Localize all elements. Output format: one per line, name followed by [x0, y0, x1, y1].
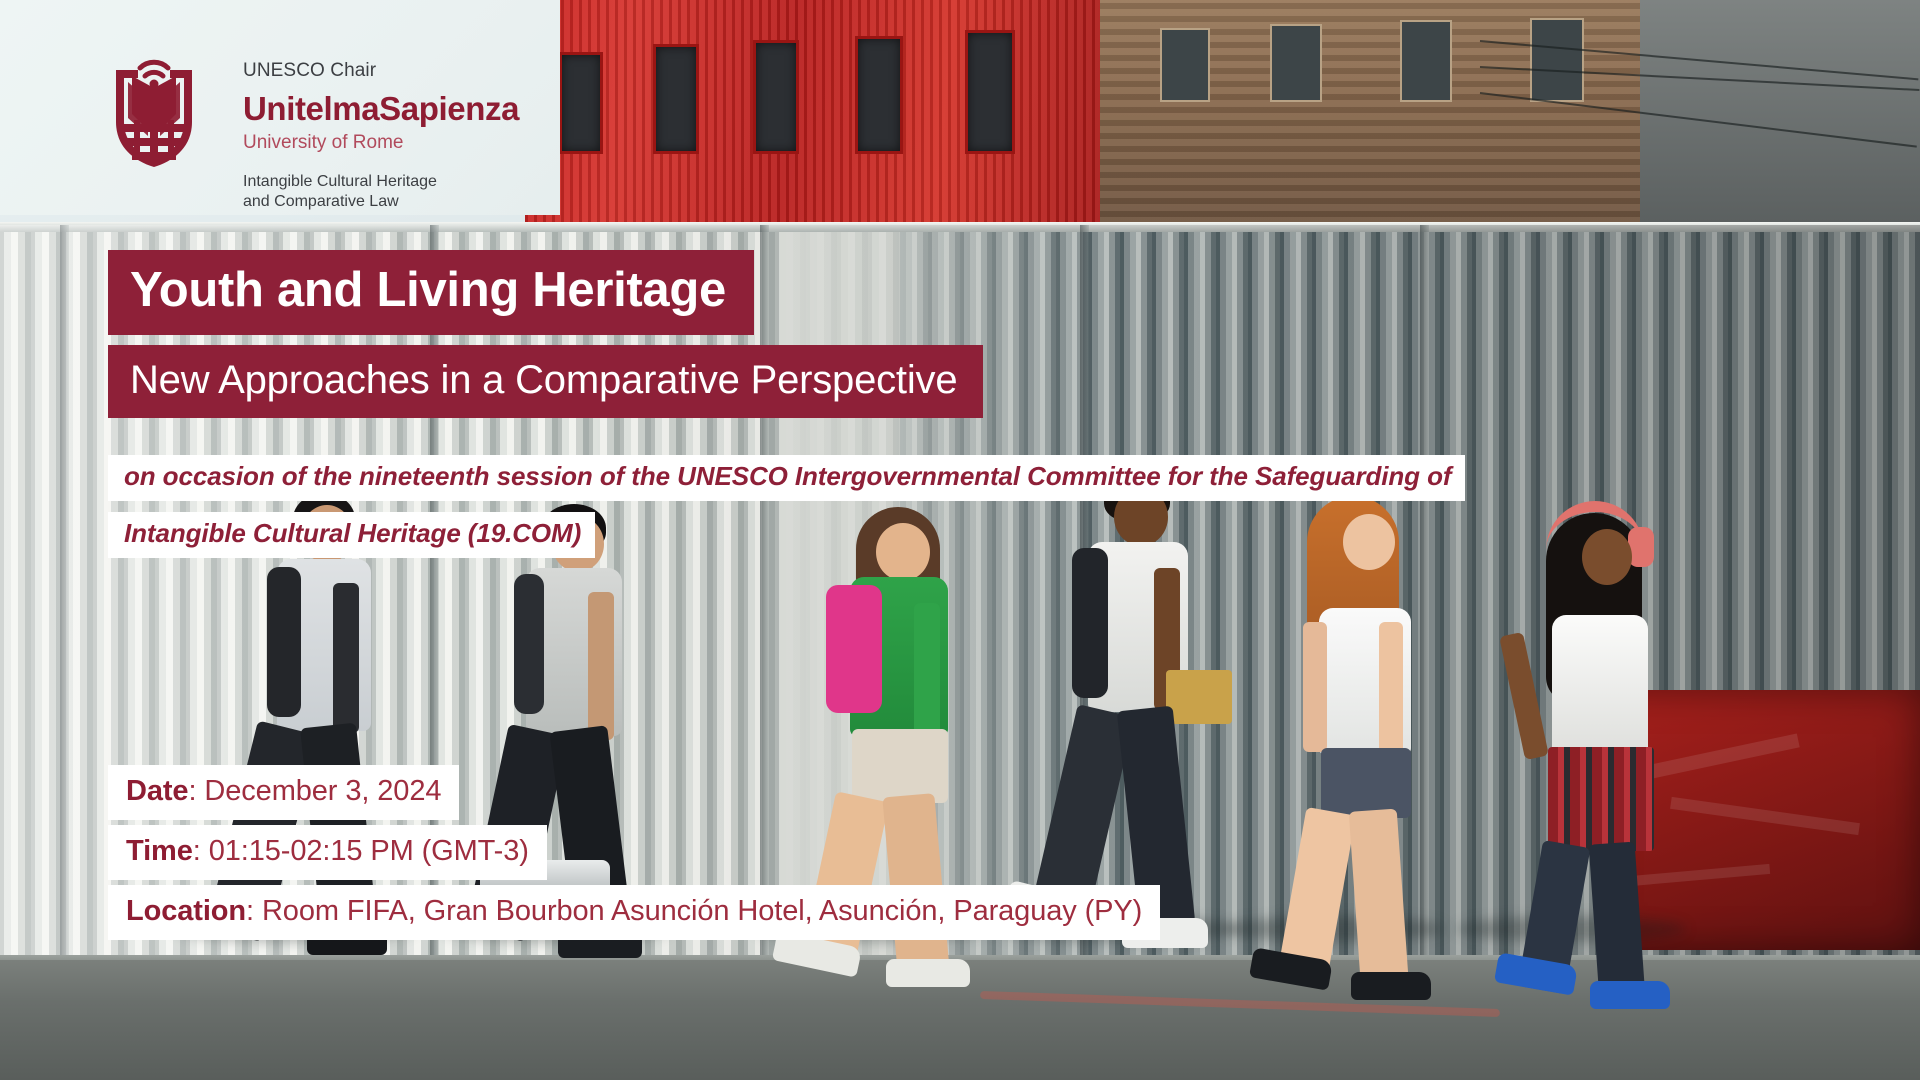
wire — [1480, 40, 1919, 80]
event-description-line-1-wrap: on occasion of the nineteenth session of… — [108, 455, 1465, 505]
head — [1582, 529, 1632, 585]
event-time-row: Time: 01:15-02:15 PM (GMT-3) — [108, 825, 547, 880]
backpack — [267, 567, 301, 717]
event-date-label: Date — [126, 775, 188, 807]
book — [1166, 670, 1232, 724]
event-location-value: Room FIFA, Gran Bourbon Asunción Hotel, … — [262, 895, 1142, 927]
brand-text-block: UNESCO Chair UnitelmaSapienza University… — [243, 60, 519, 213]
brand-name: UnitelmaSapienza — [243, 92, 519, 125]
building-window — [855, 36, 903, 154]
event-subtitle: New Approaches in a Comparative Perspect… — [130, 358, 957, 402]
unesco-chair-label: UNESCO Chair — [243, 60, 519, 83]
chair-subject: Intangible Cultural Heritage and Compara… — [243, 172, 519, 214]
building-window — [1160, 28, 1210, 102]
backpack — [826, 585, 882, 713]
event-time-label: Time — [126, 835, 193, 867]
event-date-wrap: Date: December 3, 2024 — [108, 765, 459, 832]
building-window — [1270, 24, 1322, 102]
person-walking — [1255, 502, 1440, 1002]
brand-header-panel: UNESCO Chair UnitelmaSapienza University… — [0, 0, 560, 215]
shoe — [886, 959, 970, 987]
event-title-bar: Youth and Living Heritage — [108, 250, 754, 335]
event-location-wrap: Location: Room FIFA, Gran Bourbon Asunci… — [108, 885, 1160, 952]
shorts — [852, 729, 948, 803]
event-time-wrap: Time: 01:15-02:15 PM (GMT-3) — [108, 825, 547, 892]
event-time-separator: : — [193, 835, 209, 867]
headphone-cup — [1628, 527, 1654, 567]
event-date-value: December 3, 2024 — [204, 775, 441, 807]
arm — [1499, 632, 1549, 760]
backpack — [514, 574, 544, 714]
event-time-value: 01:15-02:15 PM (GMT-3) — [209, 835, 529, 867]
event-title: Youth and Living Heritage — [130, 264, 726, 317]
unesco-chair-shield-globe-logo-icon — [108, 52, 200, 167]
university-name: University of Rome — [243, 132, 519, 155]
arm — [1379, 622, 1403, 756]
shoe — [1590, 981, 1670, 1009]
denim-shorts — [1321, 748, 1411, 818]
person-walking — [1490, 507, 1685, 1002]
power-wires — [1480, 30, 1920, 150]
arm — [588, 592, 614, 740]
plaid-skirt — [1548, 747, 1654, 851]
building-window — [653, 44, 699, 154]
leg — [1589, 842, 1646, 1001]
building-window — [965, 30, 1015, 154]
building-window — [753, 40, 799, 154]
chair-subject-line-2: and Comparative Law — [243, 192, 519, 213]
arm — [333, 583, 359, 733]
building-window — [1400, 20, 1452, 102]
leg — [1349, 809, 1410, 994]
event-poster: UNESCO Chair UnitelmaSapienza University… — [0, 0, 1920, 1080]
event-location-separator: : — [246, 895, 262, 927]
event-date-separator: : — [188, 775, 204, 807]
wire — [1480, 66, 1920, 91]
head — [1343, 514, 1395, 570]
event-date-row: Date: December 3, 2024 — [108, 765, 459, 820]
event-location-label: Location — [126, 895, 246, 927]
event-description-line-1: on occasion of the nineteenth session of… — [108, 455, 1465, 501]
wire — [1480, 92, 1917, 148]
event-location-row: Location: Room FIFA, Gran Bourbon Asunci… — [108, 885, 1160, 940]
arm — [914, 603, 940, 735]
graffiti-stroke — [1670, 797, 1860, 835]
chair-subject-line-1: Intangible Cultural Heritage — [243, 172, 519, 193]
event-description-line-2-wrap: Intangible Cultural Heritage (19.COM) — [108, 512, 595, 562]
event-subtitle-bar: New Approaches in a Comparative Perspect… — [108, 345, 983, 418]
event-description-line-2: Intangible Cultural Heritage (19.COM) — [108, 512, 595, 558]
torso — [1552, 615, 1648, 757]
red-building — [525, 0, 1100, 240]
backpack — [1072, 548, 1108, 698]
shoe — [1351, 972, 1431, 1000]
head — [876, 523, 930, 581]
building-window — [559, 52, 603, 154]
arm — [1303, 622, 1327, 752]
